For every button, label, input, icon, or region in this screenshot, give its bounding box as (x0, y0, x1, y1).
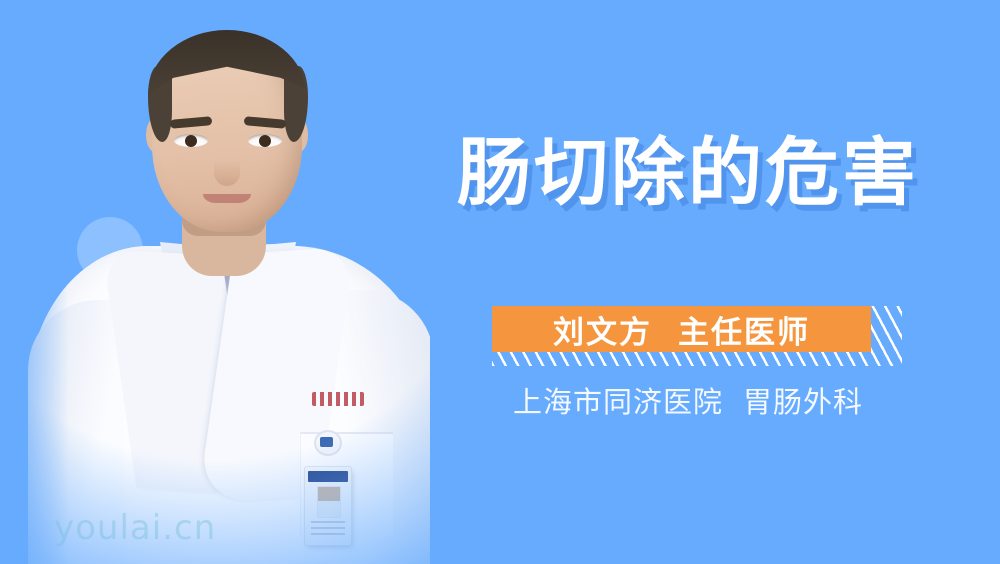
id-badge-header (308, 471, 348, 482)
id-badge (304, 466, 352, 546)
badge-clip (314, 430, 342, 456)
doctor-name-banner: 刘文方主任医师 (492, 306, 871, 352)
nose (214, 150, 240, 186)
poster-title: 肠切除的危害 (430, 136, 946, 210)
department-name: 胃肠外科 (743, 385, 863, 419)
doctor-portrait-photo (0, 0, 430, 564)
hospital-department-line: 上海市同济医院胃肠外科 (430, 379, 946, 421)
doctor-name-text: 刘文方主任医师 (553, 307, 810, 352)
doctor-name: 刘文方 (553, 315, 652, 351)
video-thumbnail-poster: 肠切除的危害 刘文方主任医师 上海市同济医院胃肠外科 youlai.cn (0, 0, 1000, 564)
hospital-name: 上海市同济医院 (513, 385, 723, 419)
doctor-name-banner-group: 刘文方主任医师 (492, 306, 902, 366)
site-watermark: youlai.cn (54, 508, 216, 548)
eye-right (248, 134, 282, 147)
eye-left (174, 134, 208, 147)
id-badge-photo (317, 486, 341, 518)
doctor-professional-title: 主任医师 (678, 315, 810, 351)
hospital-logo-embroidery (312, 392, 364, 406)
mouth (203, 194, 251, 203)
id-badge-text-lines (311, 521, 345, 539)
